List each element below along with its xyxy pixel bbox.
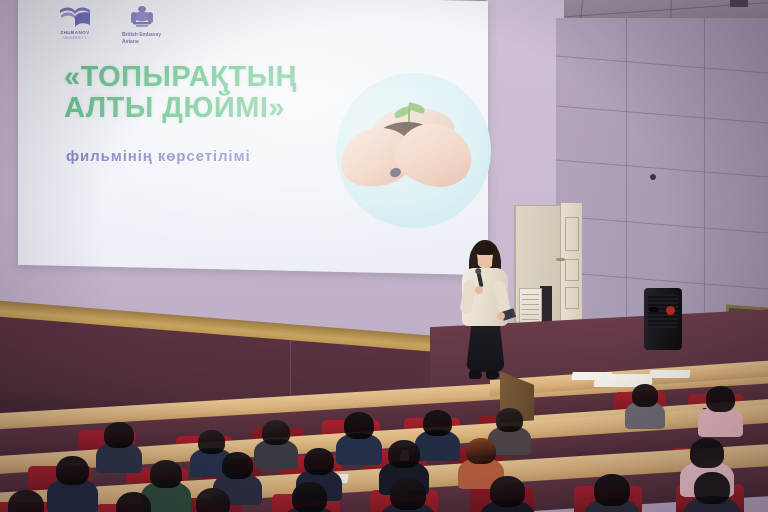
person-hair <box>594 474 630 506</box>
person-hair <box>423 410 452 436</box>
slide-title-line-1: «ТОПЫРАҚТЫҢ <box>64 62 297 93</box>
audience-person <box>390 478 426 510</box>
person-hair <box>198 430 225 454</box>
papers-on-desk <box>649 370 690 378</box>
audience-person <box>8 490 44 512</box>
audience-person <box>304 448 334 475</box>
person-hair <box>262 420 290 445</box>
person-hair <box>388 440 420 468</box>
audience-person <box>496 408 523 432</box>
person-hair <box>196 488 230 512</box>
audience-person <box>694 472 730 504</box>
person-hair <box>104 422 134 448</box>
person-hair <box>706 386 735 412</box>
person-hair <box>496 408 523 432</box>
slide-title: «ТОПЫРАҚТЫҢ АЛТЫ ДЮЙМІ» <box>64 62 297 125</box>
person-hair <box>292 482 327 512</box>
person-hair <box>116 492 151 512</box>
audience-person <box>262 420 290 445</box>
british-embassy-logo-label: British Embassy Astana <box>122 32 161 46</box>
audience-person <box>292 482 327 512</box>
person-hair <box>466 438 496 464</box>
wall-mounted-sensor-icon <box>650 174 656 180</box>
audience-person <box>690 438 724 468</box>
zhubanov-logo-label: ZHUBANOV UNIVERSITY <box>60 30 89 40</box>
audience-person <box>150 460 182 488</box>
audience-person <box>466 438 496 464</box>
speaker-port <box>649 307 659 312</box>
audience-person <box>490 476 525 507</box>
audience-person <box>632 384 658 407</box>
royal-crest-icon <box>127 4 157 30</box>
british-embassy-logo: British Embassy Astana <box>122 4 161 46</box>
slide-title-line-2: АЛТЫ ДЮЙМІ» <box>64 93 297 124</box>
projection-screen: ZHUBANOV UNIVERSITY British Embassy <box>18 0 488 275</box>
audience-person <box>344 412 374 439</box>
audience-person <box>388 440 420 468</box>
audience-person <box>222 452 253 479</box>
slide-subtitle: фильмінің көрсетілімі <box>66 148 251 165</box>
person-hair <box>150 460 182 488</box>
audience-area <box>0 356 768 512</box>
audience-person <box>706 386 735 412</box>
presenter-hand-right <box>497 312 505 320</box>
audience-person <box>116 492 151 512</box>
speaker-brand-indicator-icon <box>666 306 675 315</box>
zhubanov-university-logo: ZHUBANOV UNIVERSITY <box>58 4 92 40</box>
open-door-leaf[interactable] <box>560 203 582 333</box>
person-hair <box>490 476 525 507</box>
person-hair <box>632 384 658 407</box>
pa-loudspeaker <box>644 288 682 350</box>
person-hair <box>56 456 89 485</box>
slide-logos: ZHUBANOV UNIVERSITY British Embassy <box>58 4 161 46</box>
audience-person <box>104 422 134 448</box>
person-hair <box>390 478 426 510</box>
person-hair <box>304 448 334 475</box>
person-hair <box>694 472 730 504</box>
audience-person <box>198 430 225 454</box>
person-hair <box>222 452 253 479</box>
audience-person <box>56 456 89 485</box>
audience-person <box>594 474 630 506</box>
person-hair <box>690 438 724 468</box>
person-hair <box>344 412 374 439</box>
audience-person <box>196 488 230 512</box>
door-handle[interactable] <box>556 258 565 261</box>
presenter-hand-left <box>475 286 483 294</box>
lecture-hall-photo: ZHUBANOV UNIVERSITY British Embassy <box>0 0 768 512</box>
audience-person <box>423 410 452 436</box>
zhubanov-book-icon <box>58 4 92 28</box>
person-hair <box>8 490 44 512</box>
